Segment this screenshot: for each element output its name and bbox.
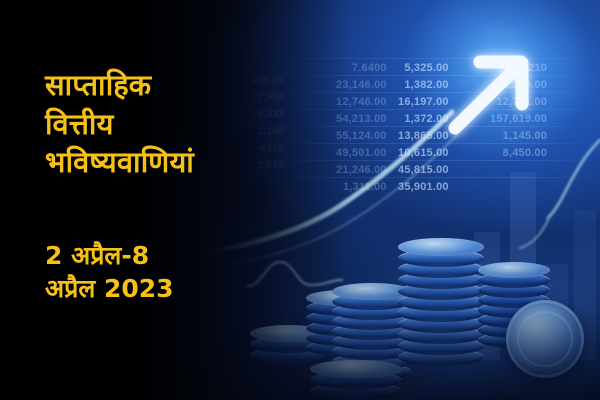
text-block: साप्ताहिक वित्तीय भविष्यवाणियां 2 अप्रैल… (45, 66, 275, 306)
financial-forecast-banner: 206,20 7,950 6,332 2,108 4,118 1,045 7.6… (0, 0, 600, 400)
page-title: साप्ताहिक वित्तीय भविष्यवाणियां (45, 66, 275, 182)
title-line: वित्तीय (45, 105, 275, 144)
date-range: 2 अप्रैल-8 अप्रैल 2023 (45, 239, 275, 307)
date-line: 2 अप्रैल-8 (45, 239, 275, 273)
date-line: अप्रैल 2023 (45, 272, 275, 306)
title-line: साप्ताहिक (45, 66, 275, 105)
title-line: भविष्यवाणियां (45, 143, 275, 182)
